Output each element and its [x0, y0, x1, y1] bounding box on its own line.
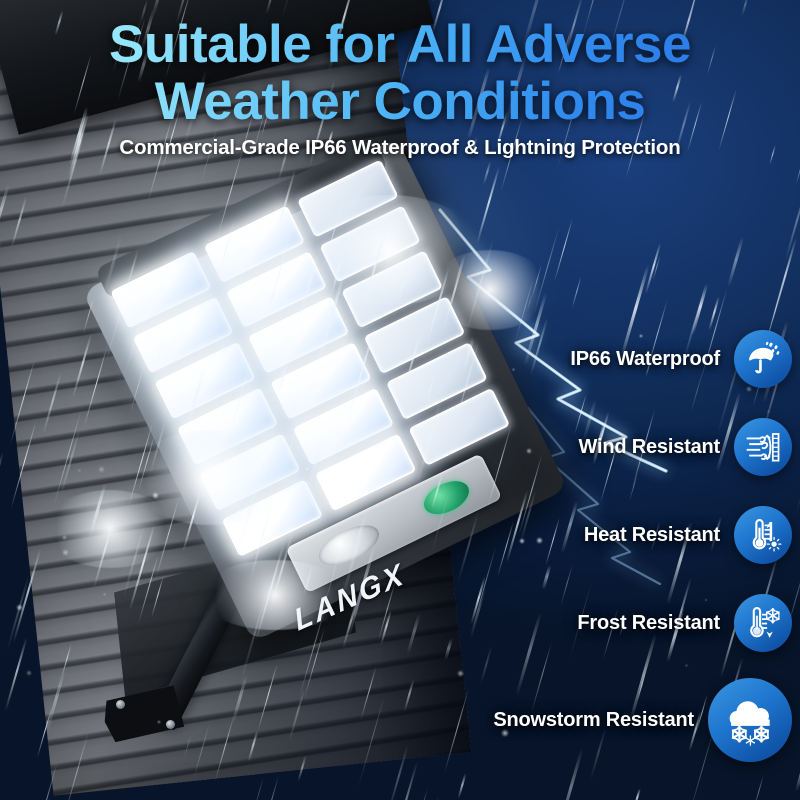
thermometer-snowflake-icon [734, 594, 792, 652]
thermometer-sun-icon [734, 506, 792, 564]
page-subtitle: Commercial-Grade IP66 Waterproof & Light… [0, 136, 800, 160]
feature-row-wind: Wind Resistant [322, 418, 792, 476]
bracket-screw [166, 720, 175, 729]
feature-row-frost: Frost Resistant [322, 594, 792, 652]
bracket-screw [116, 700, 125, 709]
headline-line-2: Weather Conditions [0, 73, 800, 130]
feature-row-waterproof: IP66 Waterproof [322, 330, 792, 388]
umbrella-rain-icon [734, 330, 792, 388]
feature-label: Wind Resistant [579, 436, 720, 459]
feature-row-heat: Heat Resistant [322, 506, 792, 564]
feature-label: IP66 Waterproof [570, 348, 720, 371]
feature-label: Frost Resistant [577, 612, 720, 635]
feature-label: Heat Resistant [584, 524, 720, 547]
wind-icon [734, 418, 792, 476]
product-infographic: LANGX Suitable for All Adverse Weather C… [0, 0, 800, 800]
feature-label: Snowstorm Resistant [493, 709, 694, 732]
feature-list: IP66 Waterproof Wind Resistant [322, 330, 792, 773]
water-splash [130, 430, 290, 525]
water-splash [430, 250, 550, 330]
page-headline: Suitable for All Adverse Weather Conditi… [0, 16, 800, 130]
feature-row-snowstorm: Snowstorm Resistant [322, 678, 792, 762]
headline-line-1: Suitable for All Adverse [0, 16, 800, 73]
snow-cloud-icon [708, 678, 792, 762]
